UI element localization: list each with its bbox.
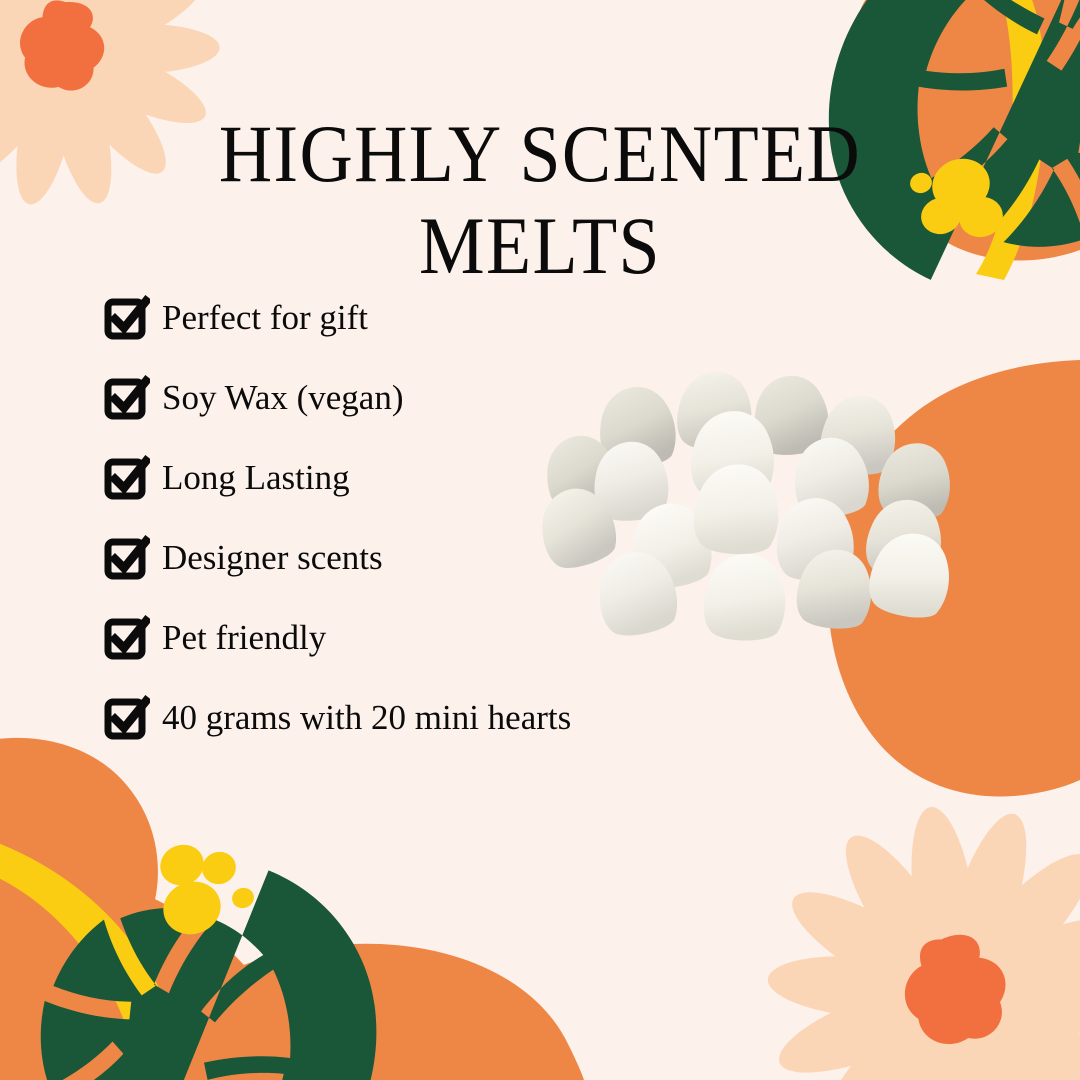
- feature-item-weight-count: 40 grams with 20 mini hearts: [104, 692, 724, 744]
- daisy-flower-bottom-right: [741, 780, 1080, 1080]
- feature-item-designer-scents: Designer scents: [104, 532, 724, 584]
- checkbox-checked-icon: [104, 455, 150, 501]
- feature-item-soy-wax: Soy Wax (vegan): [104, 372, 724, 424]
- feature-item-long-lasting: Long Lasting: [104, 452, 724, 504]
- checkbox-checked-icon: [104, 615, 150, 661]
- checkbox-checked-icon: [104, 535, 150, 581]
- feature-label: Soy Wax (vegan): [162, 378, 403, 418]
- daisy-flower-top-left: [0, 0, 251, 237]
- feature-list: Perfect for gift Soy Wax (vegan) Long La…: [104, 292, 724, 772]
- feature-label: Long Lasting: [162, 458, 350, 498]
- checkbox-checked-icon: [104, 375, 150, 421]
- checkbox-checked-icon: [104, 295, 150, 341]
- poster-canvas: HIGHLY SCENTED MELTS Perfect for gift So…: [0, 0, 1080, 1080]
- feature-item-pet-friendly: Pet friendly: [104, 612, 724, 664]
- feature-label: 40 grams with 20 mini hearts: [162, 698, 571, 738]
- checkbox-checked-icon: [104, 695, 150, 741]
- feature-label: Pet friendly: [162, 618, 326, 658]
- feature-label: Perfect for gift: [162, 298, 368, 338]
- feature-item-perfect-for-gift: Perfect for gift: [104, 292, 724, 344]
- feature-label: Designer scents: [162, 538, 383, 578]
